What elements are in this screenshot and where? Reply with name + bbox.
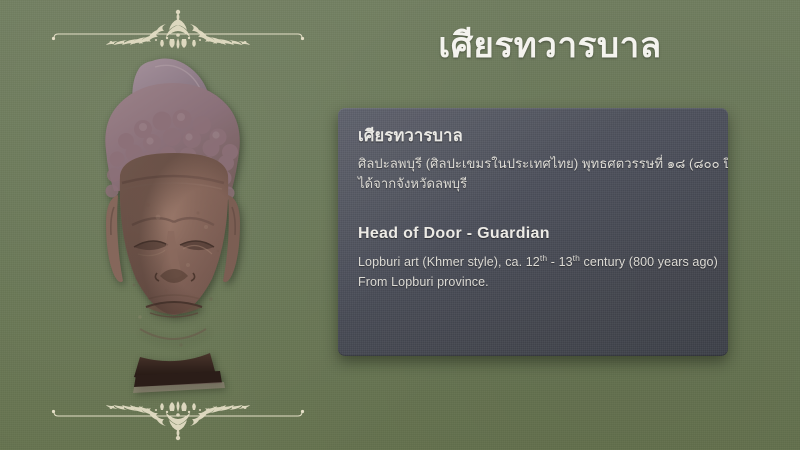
english-line1-pre: Lopburi art (Khmer style), ca. 12 <box>358 255 540 269</box>
artifact-container <box>48 55 298 400</box>
museum-label-panel: เศียรทวารบาล ศิลปะลพบุรี (ศิลปะเขมรในประ… <box>338 108 728 356</box>
label-english-line-1: Lopburi art (Khmer style), ca. 12th - 13… <box>358 252 708 272</box>
filigree-ornament-top <box>42 8 314 56</box>
label-thai-line-1: ศิลปะลพบุรี (ศิลปะเขมรในประเทศไทย) พุทธศ… <box>358 154 708 174</box>
label-english-block: Head of Door - Guardian Lopburi art (Khm… <box>358 224 708 292</box>
english-line1-mid: - 13 <box>547 255 573 269</box>
label-english-line-2: From Lopburi province. <box>358 272 708 292</box>
filigree-ornament-bottom <box>42 394 314 442</box>
label-thai-line-2: ได้จากจังหวัดลพบุรี <box>358 174 708 194</box>
page-title: เศียรทวารบาล <box>330 18 770 74</box>
english-line1-post: century (800 years ago) <box>580 255 718 269</box>
english-line1-sup2: th <box>573 253 580 263</box>
label-thai-heading: เศียรทวารบาล <box>358 126 708 147</box>
label-english-heading: Head of Door - Guardian <box>358 224 708 245</box>
buddha-guardian-head-sculpture <box>48 55 298 400</box>
slide-root: เศียรทวารบาล <box>0 0 800 450</box>
